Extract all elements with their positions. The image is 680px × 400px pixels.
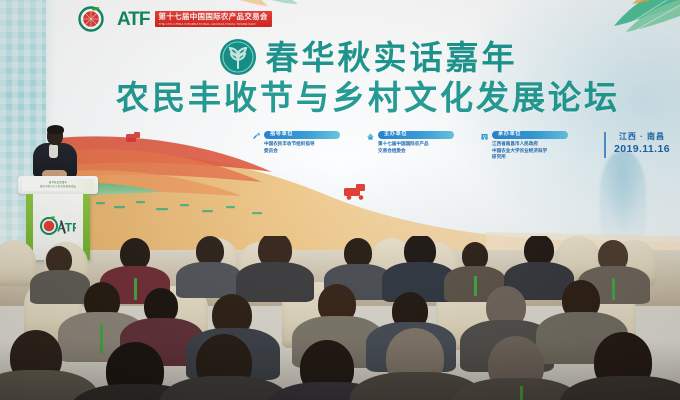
lanyard [612, 278, 615, 300]
catf-logo-lockup: ATF 第十七届中国国际农产品交易会 THE 17th CHINA INTERN… [78, 6, 272, 32]
catf-apple-globe-icon [78, 6, 112, 32]
catf-wordmark: ATF [117, 10, 150, 29]
conference-photo: ATF 第十七届中国国际农产品交易会 THE 17th CHINA INTERN… [0, 0, 680, 400]
speaker-shirt [49, 144, 58, 158]
speaker-hair [47, 125, 64, 134]
lanyard [520, 386, 523, 400]
lectern-name-panel: 春华秋实话嘉年 农民丰收节与乡村文化发展论坛 [22, 179, 94, 191]
green-wheat-seal-icon [219, 38, 257, 76]
audience-shoulders [560, 376, 680, 400]
lanyard [134, 278, 137, 300]
lectern-panel-line: 农民丰收节与乡村文化发展论坛 [40, 185, 76, 189]
lanyard [474, 276, 477, 296]
catf-red-banner-cn: 第十七届中国国际农产品交易会 [159, 13, 268, 21]
lanyard [100, 324, 103, 354]
title-line1-row: 春华秋实话嘉年 [56, 38, 680, 76]
catf-red-banner: 第十七届中国国际农产品交易会 THE 17th CHINA INTERNATIO… [155, 11, 272, 27]
title-line2: 农民丰收节与乡村文化发展论坛 [56, 81, 680, 116]
stage-backdrop-screen: ATF 第十七届中国国际农产品交易会 THE 17th CHINA INTERN… [56, 0, 680, 252]
catf-red-banner-en: THE 17th CHINA INTERNATIONAL AGRICULTURA… [159, 22, 268, 26]
audience-shoulders [236, 262, 314, 302]
backdrop-landscape-artwork [56, 132, 680, 252]
audience-shoulders [30, 270, 90, 304]
lectern-catf-icon: ATF [40, 216, 76, 236]
audience-shoulders [176, 262, 242, 298]
audience [0, 236, 680, 400]
title-line1: 春华秋实话嘉年 [266, 41, 518, 74]
lectern-catf-logo: ATF [40, 216, 76, 236]
backdrop-title-block: 春华秋实话嘉年 农民丰收节与乡村文化发展论坛 [56, 38, 680, 116]
